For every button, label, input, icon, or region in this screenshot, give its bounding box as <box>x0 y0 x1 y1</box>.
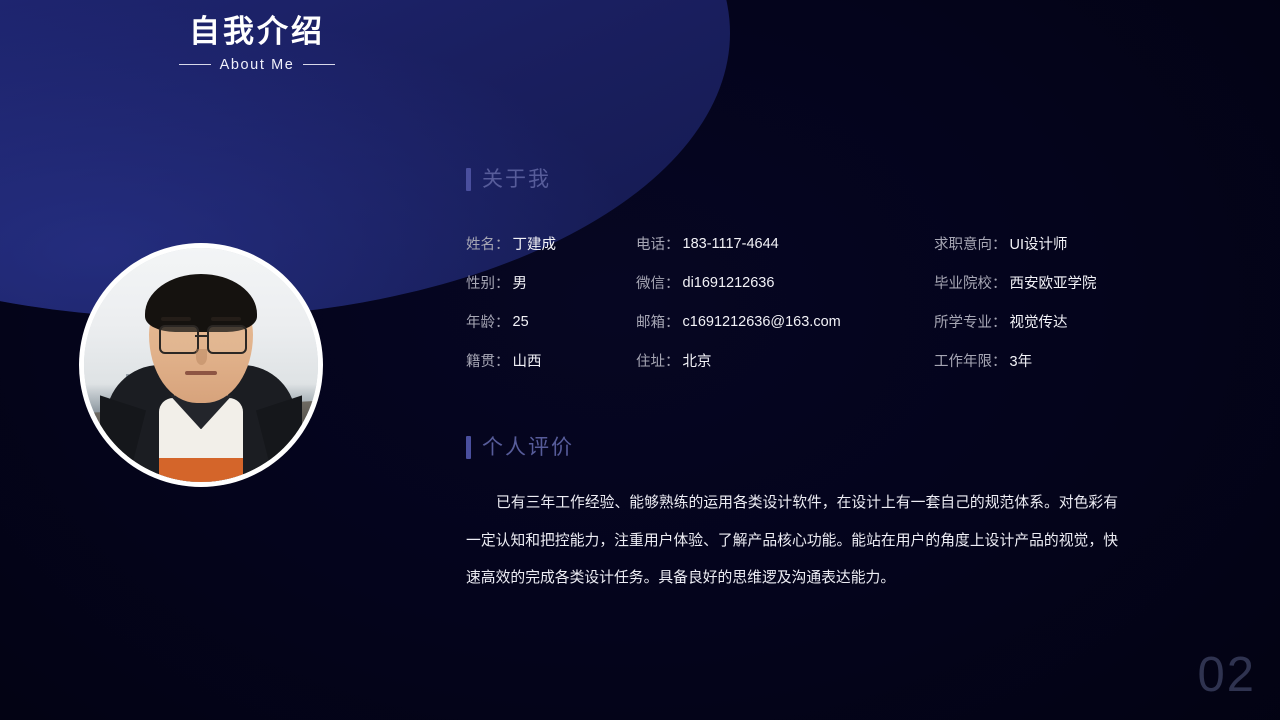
evaluation-paragraph: 已有三年工作经验、能够熟练的运用各类设计软件，在设计上有一套自己的规范体系。对色… <box>466 485 1118 598</box>
info-value: 男 <box>513 272 528 293</box>
info-item-hometown: 籍贯： 山西 <box>466 341 636 380</box>
info-item-email: 邮箱： c1691212636@163.com <box>636 302 934 341</box>
photo-glasses-left <box>159 325 199 354</box>
info-grid: 姓名： 丁建成 电话： 183-1117-4644 求职意向： UI设计师 性别… <box>466 224 1156 380</box>
info-label: 求职意向： <box>934 233 1007 254</box>
info-label: 所学专业： <box>934 311 1007 332</box>
info-item-age: 年龄： 25 <box>466 302 636 341</box>
photo-nose <box>196 349 207 365</box>
accent-bar-icon <box>466 436 471 459</box>
photo-eyebrow-left <box>161 317 191 321</box>
avatar-photo <box>84 248 318 482</box>
info-value: 丁建成 <box>513 233 557 254</box>
info-label: 邮箱： <box>636 311 680 332</box>
photo-mouth <box>185 371 217 375</box>
info-value: 25 <box>513 314 529 330</box>
photo-glasses-right <box>207 325 247 354</box>
info-item-experience: 工作年限： 3年 <box>934 341 1156 380</box>
content-area: 关于我 姓名： 丁建成 电话： 183-1117-4644 求职意向： UI设计… <box>466 168 1156 613</box>
info-value: di1691212636 <box>683 275 775 291</box>
slide-about-me: 自我介绍 About Me <box>0 0 1280 720</box>
evaluation-section-title: 个人评价 <box>482 437 574 458</box>
info-item-major: 所学专业： 视觉传达 <box>934 302 1156 341</box>
page-number: 02 <box>1197 651 1256 700</box>
info-item-name: 姓名： 丁建成 <box>466 224 636 263</box>
info-value: 3年 <box>1010 350 1033 371</box>
page-title: 自我介绍 <box>92 14 422 51</box>
about-section-heading: 关于我 <box>466 168 1156 191</box>
page-subtitle: About Me <box>220 57 295 73</box>
info-label: 年龄： <box>466 311 510 332</box>
info-value: 西安欧亚学院 <box>1010 272 1097 293</box>
accent-bar-icon <box>466 168 471 191</box>
photo-eyebrow-right <box>211 317 241 321</box>
subtitle-rule-left <box>179 64 211 65</box>
info-label: 毕业院校： <box>934 272 1007 293</box>
info-label: 电话： <box>636 233 680 254</box>
info-item-address: 住址： 北京 <box>636 341 934 380</box>
page-subtitle-group: About Me <box>92 57 422 73</box>
info-item-wechat: 微信： di1691212636 <box>636 263 934 302</box>
info-item-phone: 电话： 183-1117-4644 <box>636 224 934 263</box>
info-value: c1691212636@163.com <box>683 314 841 330</box>
info-label: 住址： <box>636 350 680 371</box>
about-section-title: 关于我 <box>482 169 551 190</box>
info-value: 山西 <box>513 350 542 371</box>
info-item-gender: 性别： 男 <box>466 263 636 302</box>
subtitle-rule-right <box>303 64 335 65</box>
header-text-block: 自我介绍 About Me <box>92 14 422 73</box>
info-item-school: 毕业院校： 西安欧亚学院 <box>934 263 1156 302</box>
info-value: 183-1117-4644 <box>683 236 779 252</box>
info-value: 视觉传达 <box>1010 311 1068 332</box>
photo-glasses-bridge <box>195 335 207 338</box>
info-label: 工作年限： <box>934 350 1007 371</box>
info-label: 籍贯： <box>466 350 510 371</box>
info-item-job-intent: 求职意向： UI设计师 <box>934 224 1156 263</box>
info-label: 微信： <box>636 272 680 293</box>
info-label: 性别： <box>466 272 510 293</box>
info-label: 姓名： <box>466 233 510 254</box>
info-value: 北京 <box>683 350 712 371</box>
avatar <box>79 243 323 487</box>
evaluation-section-heading: 个人评价 <box>466 436 1156 459</box>
info-value: UI设计师 <box>1010 233 1068 254</box>
photo-shirt-stripe <box>159 458 243 482</box>
